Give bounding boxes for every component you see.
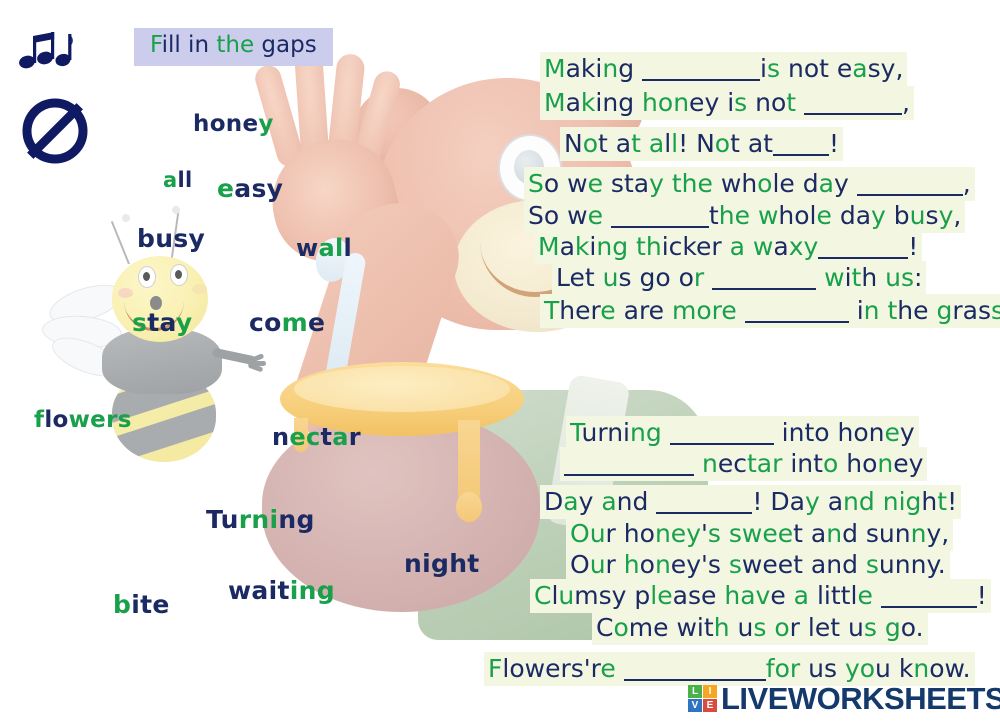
poem-line-text: Day and ! Day and night! [540, 485, 961, 519]
answer-blank[interactable] [670, 420, 774, 445]
answer-blank[interactable] [804, 90, 902, 115]
poem-line-text: So we the whole day busy, [524, 199, 965, 233]
verse-two-line: Clumsy please have a little ! [530, 583, 991, 608]
verse-two-line: Our honey's sweet and sunny, [566, 521, 953, 546]
verse-two-line: nectar into honey [560, 451, 927, 476]
word-bank-item[interactable]: busy [137, 224, 205, 253]
poem-line-text: Our honey's sweet and sunny, [566, 517, 953, 551]
poem-line-text: Not at all! Not at! [560, 127, 843, 161]
verse-two-line: Day and ! Day and night! [540, 489, 961, 514]
poem-line-text: So we stay the whole day , [524, 167, 975, 201]
verse-one-line: There are more in the grass! [540, 298, 1000, 323]
word-bank-item[interactable]: nectar [272, 423, 361, 451]
answer-blank[interactable] [611, 203, 709, 228]
badge-letter: E [703, 699, 717, 712]
word-bank-item[interactable]: all [163, 168, 192, 192]
verse-one-line: Making thicker a waxy! [534, 234, 922, 259]
answer-blank[interactable] [564, 451, 694, 476]
poem-line-text: Clumsy please have a little ! [530, 579, 991, 613]
verse-two-line: Our honey's sweet and sunny. [566, 552, 950, 577]
verse-one-line: So we stay the whole day , [524, 171, 975, 196]
liveworksheets-wordmark: LIVEWORKSHEETS [721, 683, 1000, 714]
answer-blank[interactable] [818, 234, 908, 259]
badge-letter: L [688, 685, 702, 698]
poem-line-text: Turning into honey [566, 416, 919, 450]
answer-blank[interactable] [745, 298, 849, 323]
answer-blank[interactable] [881, 583, 977, 608]
poem-line-text: Making thicker a waxy! [534, 230, 922, 264]
poem-line-text: Our honey's sweet and sunny. [566, 548, 950, 582]
badge-letter: I [703, 685, 717, 698]
word-bank-item[interactable]: Turning [206, 505, 315, 534]
fill-in-the-gaps-label: Fill in the gaps [150, 32, 317, 58]
verse-one-line: Making honey is not , [540, 90, 914, 115]
poem-line-text: Come with us or let us go. [592, 611, 928, 645]
word-bank-item[interactable]: honey [193, 111, 274, 137]
music-notes-icon [18, 30, 74, 72]
answer-blank[interactable] [857, 171, 963, 196]
poem-line-text: Let us go or with us: [552, 261, 926, 295]
verse-one-line: Making is not easy, [540, 56, 907, 81]
answer-blank[interactable] [712, 265, 816, 290]
poem-line-text: There are more in the grass! [540, 294, 1000, 328]
verse-two-line: Turning into honey [566, 420, 919, 445]
answer-blank[interactable] [656, 489, 752, 514]
word-bank-item[interactable]: waiting [228, 576, 335, 605]
word-bank-item[interactable]: come [249, 308, 325, 337]
worksheet-page: Fill in the gaps honeyalleasybusywallsta… [0, 0, 1000, 724]
word-bank-item[interactable]: bite [113, 590, 170, 619]
verse-two-line: Flowers're for us you know. [484, 656, 975, 681]
poem-line-text: Making is not easy, [540, 52, 907, 86]
word-bank-item[interactable]: stay [132, 308, 192, 337]
badge-letter: V [688, 699, 702, 712]
word-bank-item[interactable]: easy [217, 174, 283, 203]
word-bank-item[interactable]: wall [296, 234, 352, 262]
no-entry-icon [22, 98, 88, 164]
verse-one-line: Not at all! Not at! [560, 131, 843, 156]
liveworksheets-badge: LIVE [688, 685, 717, 712]
liveworksheets-logo: LIVE LIVEWORKSHEETS [688, 683, 1000, 714]
fill-in-the-gaps-chip: Fill in the gaps [134, 28, 333, 66]
verse-one-line: So we the whole day busy, [524, 203, 965, 228]
verse-one-line: Let us go or with us: [552, 265, 926, 290]
answer-blank[interactable] [642, 56, 760, 81]
poem-line-text: nectar into honey [560, 447, 927, 481]
word-bank-item[interactable]: flowers [34, 407, 132, 433]
answer-blank[interactable] [773, 131, 829, 156]
word-bank-item[interactable]: night [404, 549, 480, 578]
verse-two-line: Come with us or let us go. [592, 615, 928, 640]
answer-blank[interactable] [624, 656, 766, 681]
poem-line-text: Making honey is not , [540, 86, 914, 120]
